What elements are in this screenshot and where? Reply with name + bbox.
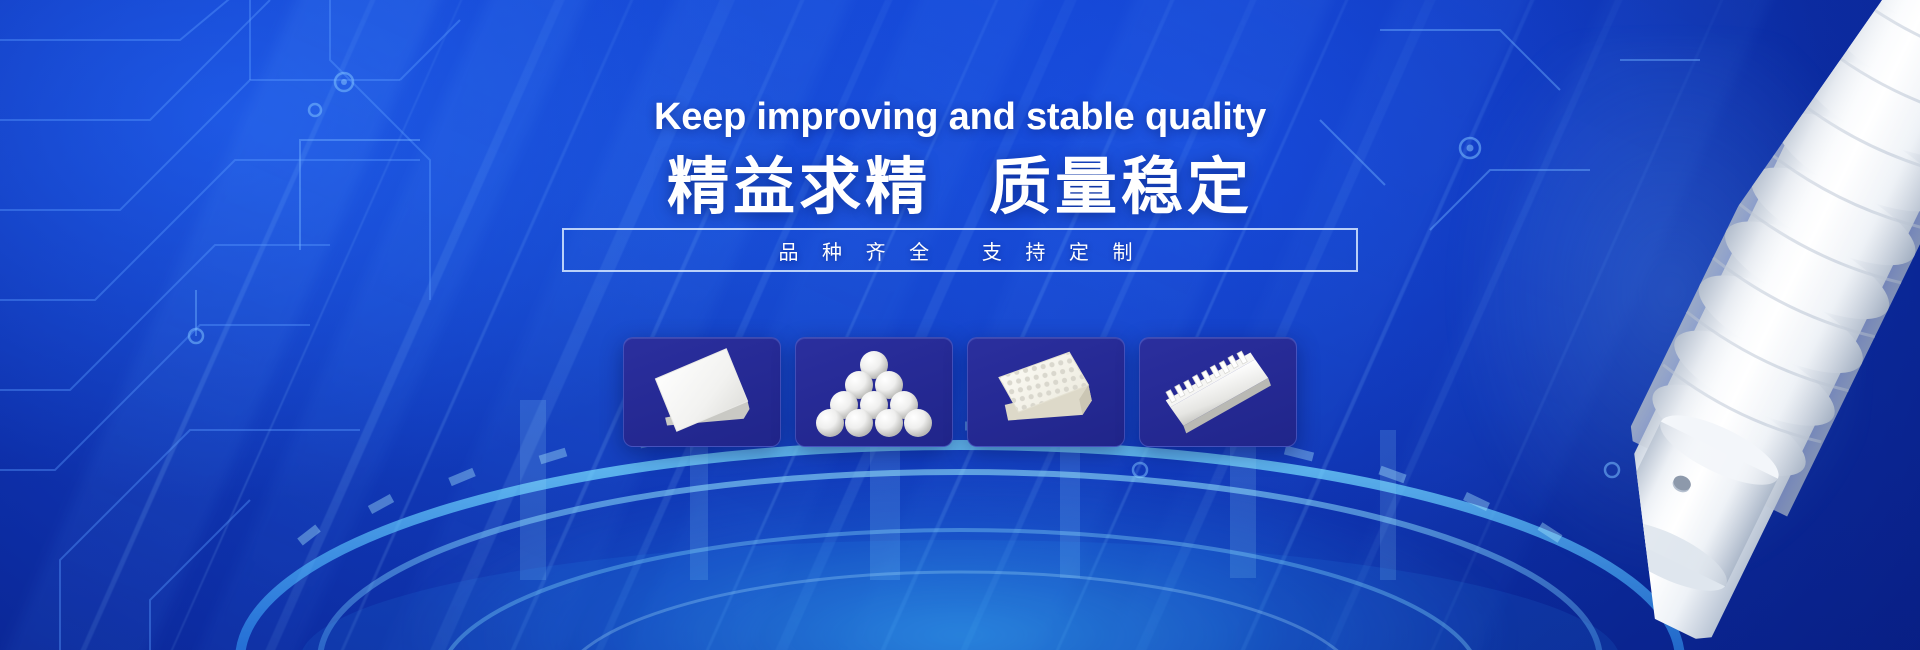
- tagline-frame: 品 种 齐 全 支 持 定 制: [562, 228, 1358, 272]
- headline-english: Keep improving and stable quality: [0, 0, 1920, 136]
- promo-banner: Keep improving and stable quality 精益求精质量…: [0, 0, 1920, 650]
- ribbed-ceramic-icon: [1152, 344, 1284, 440]
- product-card-ceramic-balls[interactable]: [795, 337, 953, 447]
- product-card-ribbed-ceramic[interactable]: [1139, 337, 1297, 447]
- headline-chinese-left: 精益求精: [667, 153, 931, 222]
- product-card-row: [623, 337, 1297, 447]
- headline-chinese: 精益求精质量稳定: [0, 136, 1920, 222]
- tagline-text: 品 种 齐 全 支 持 定 制: [778, 236, 1141, 265]
- product-card-honeycomb-ceramic[interactable]: [967, 337, 1125, 447]
- ceramic-plate-icon: [632, 342, 772, 442]
- banner-content: Keep improving and stable quality 精益求精质量…: [0, 0, 1920, 222]
- headline-chinese-right: 质量稳定: [989, 153, 1253, 222]
- product-card-ceramic-plate[interactable]: [623, 337, 781, 447]
- ceramic-balls-icon: [814, 345, 934, 439]
- honeycomb-ceramic-icon: [981, 344, 1111, 440]
